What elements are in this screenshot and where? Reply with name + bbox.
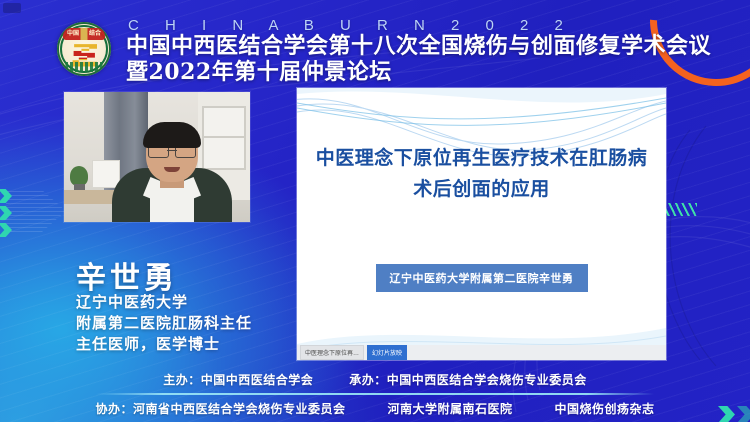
emblem-band-left-text: 中国 [67,28,79,40]
speaker-affiliation: 辽宁中医药大学 附属第二医院肛肠科主任 主任医师，医学博士 [76,292,252,355]
footer-hospital: 河南大学附属南石医院 [387,400,512,417]
footer-journal: 中国烧伤创疡杂志 [555,400,655,417]
slide-taskbar[interactable]: 中医理念下原位再… 幻灯片放映 [297,345,666,360]
taskbar-item-document[interactable]: 中医理念下原位再… [300,345,364,360]
slide-title: 中医理念下原位再生医疗技术在肛肠病 术后创面的应用 [311,143,652,205]
footer-undertaker: 承办：中国中西医结合学会烧伤专业委员会 [349,371,587,388]
footer-host: 主办：中国中西医结合学会 [163,371,313,388]
speaker-name: 辛世勇 [76,253,178,297]
slide-title-line-1: 中医理念下原位再生医疗技术在肛肠病 [311,143,652,174]
speaker-affiliation-line-1: 辽宁中医药大学 [76,292,252,313]
header-title-line1: 中国中西医结合学会第十八次全国烧伤与创面修复学术会议 [126,34,711,58]
footer-row-organizers: 主办：中国中西医结合学会 承办：中国中西医结合学会烧伤专业委员会 [0,371,750,388]
speaker-affiliation-line-2: 附属第二医院肛肠科主任 [76,313,252,334]
conference-footer: 主办：中国中西医结合学会 承办：中国中西医结合学会烧伤专业委员会 协办：河南省中… [0,364,750,422]
header-title-line2: 暨2022年第十届仲景论坛 [126,60,392,84]
footer-coorganizer: 协办：河南省中西医结合学会烧伤专业委员会 [95,400,345,417]
slide-title-line-2: 术后创面的应用 [311,174,652,205]
teal-chevrons-left [0,186,12,240]
conference-broadcast-screen: 中国 结合 C H I N A B U R N 2 0 2 2 中国中西医结合学… [0,0,750,422]
speaker-video-feed[interactable] [64,92,250,222]
presentation-slide[interactable]: 中医理念下原位再生医疗技术在肛肠病 术后创面的应用 辽宁中医药大学附属第二医院辛… [297,88,666,360]
china-association-emblem-icon: 中国 结合 [57,22,111,76]
taskbar-item-slideshow[interactable]: 幻灯片放映 [367,345,407,360]
emblem-band-right-text: 结合 [89,28,101,40]
slide-presenter-badge: 辽宁中医药大学附属第二医院辛世勇 [376,264,588,292]
conference-header: 中国 结合 C H I N A B U R N 2 0 2 2 中国中西医结合学… [0,0,750,88]
footer-divider [96,393,654,395]
green-slashes-decoration [661,203,697,216]
header-english-title: C H I N A B U R N 2 0 2 2 [128,17,574,34]
speaker-affiliation-line-3: 主任医师，医学博士 [76,334,252,355]
footer-row-coorganizers: 协办：河南省中西医结合学会烧伤专业委员会 河南大学附属南石医院 中国烧伤创疡杂志 [0,400,750,417]
